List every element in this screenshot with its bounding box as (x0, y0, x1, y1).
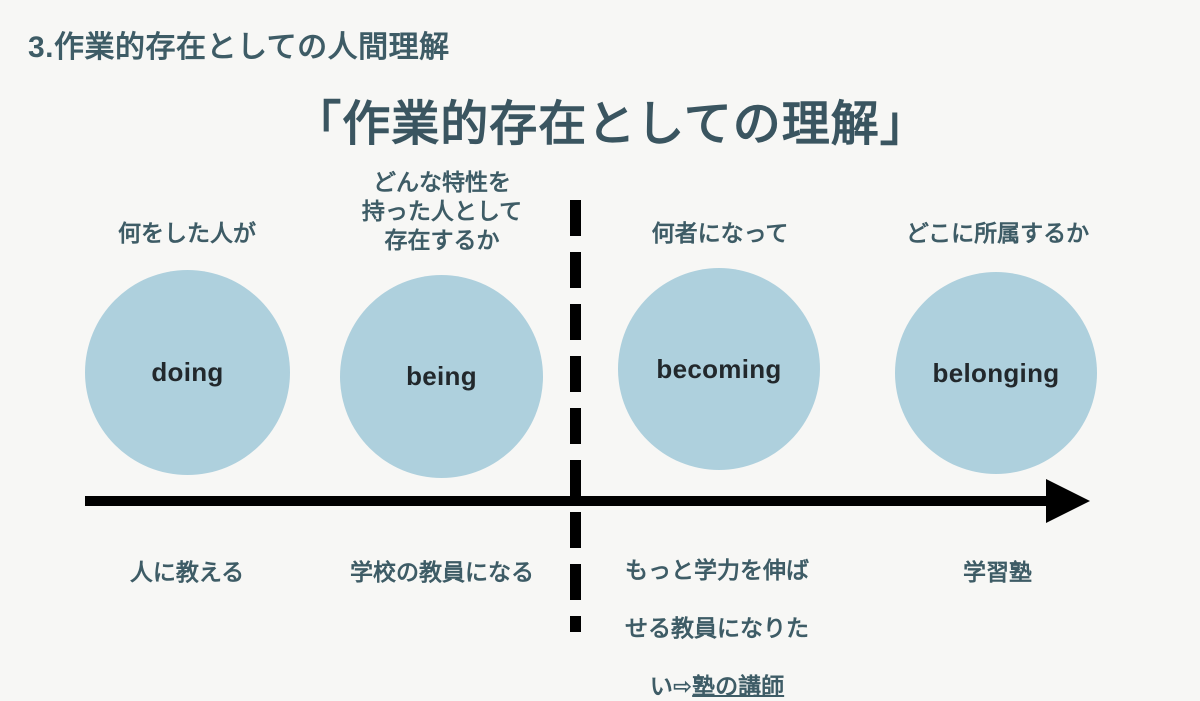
top-caption-doing: 何をした人が (77, 219, 297, 248)
bottom-caption-belonging: 学習塾 (885, 558, 1110, 587)
stage-circle-belonging: belonging (895, 272, 1097, 474)
stage-circle-label-doing: doing (151, 357, 223, 388)
top-caption-becoming: 何者になって (610, 219, 830, 248)
bottom-caption-being: 学校の教員になる (322, 558, 562, 587)
stage-circle-label-belonging: belonging (933, 358, 1060, 389)
stage-circle-label-becoming: becoming (656, 354, 781, 385)
stage-circle-doing: doing (85, 270, 290, 475)
section-heading: 3.作業的存在としての人間理解 (28, 22, 450, 66)
bottom-caption-becoming-line3-emphasis: 塾の講師 (692, 673, 784, 699)
bottom-caption-becoming-line1: もっと学力を伸ば (625, 557, 809, 583)
page-title: 「作業的存在としての理解」 (0, 84, 1200, 154)
slide-canvas: 3.作業的存在としての人間理解 「作業的存在としての理解」 何をした人が どんな… (0, 0, 1200, 675)
arrow-right-icon (1046, 479, 1090, 523)
top-caption-belonging: どこに所属するか (885, 219, 1110, 248)
stage-circle-label-being: being (406, 361, 477, 392)
bottom-caption-becoming-line2: せる教員になりた (625, 615, 809, 641)
bottom-caption-becoming-line3-prefix: い⇨ (650, 673, 692, 699)
stage-circle-becoming: becoming (618, 268, 820, 470)
stage-circle-being: being (340, 275, 543, 478)
dashed-divider (570, 200, 581, 632)
bottom-caption-doing: 人に教える (77, 558, 297, 587)
top-caption-being: どんな特性を 持った人として 存在するか (332, 168, 552, 255)
